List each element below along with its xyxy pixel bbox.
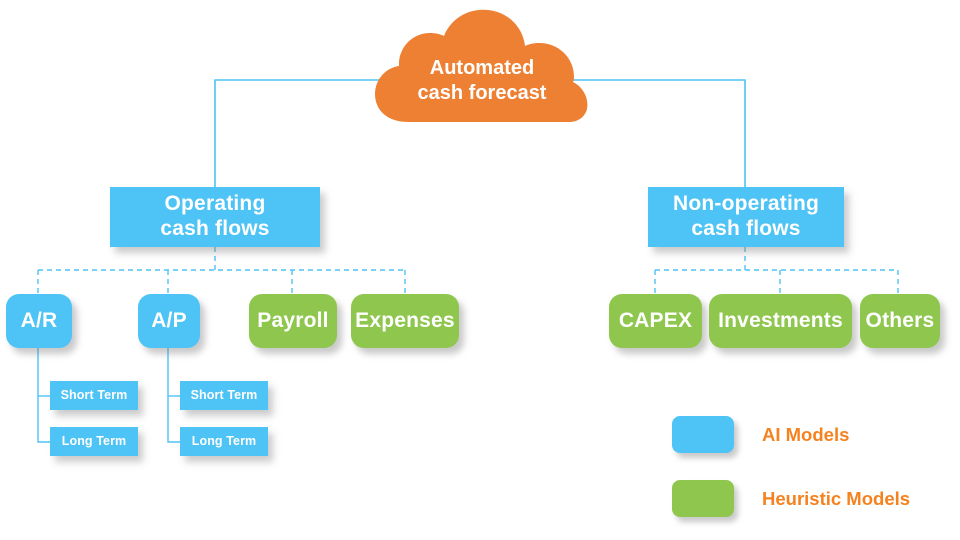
node-ar-long-term[interactable]: Long Term xyxy=(50,427,138,456)
node-label: Short Term xyxy=(61,388,128,403)
node-label: Non-operating cash flows xyxy=(673,192,819,242)
node-label: Operating cash flows xyxy=(160,192,269,242)
node-others[interactable]: Others xyxy=(860,294,940,348)
node-ap-short-term[interactable]: Short Term xyxy=(180,381,268,410)
node-label: Others xyxy=(866,309,935,334)
node-ar[interactable]: A/R xyxy=(6,294,72,348)
node-operating-cash-flows[interactable]: Operating cash flows xyxy=(110,187,320,247)
node-label: A/P xyxy=(151,309,187,334)
node-capex[interactable]: CAPEX xyxy=(609,294,702,348)
legend-swatch-green xyxy=(672,480,734,517)
node-label: Investments xyxy=(718,309,843,334)
connector-ar-spine xyxy=(38,348,50,442)
legend: AI Models Heuristic Models xyxy=(672,416,910,540)
node-label: CAPEX xyxy=(619,309,692,334)
node-label: A/R xyxy=(21,309,58,334)
node-ap[interactable]: A/P xyxy=(138,294,200,348)
diagram-canvas: Automated cash forecast Operating cash f… xyxy=(0,0,960,540)
node-label: Long Term xyxy=(192,434,257,449)
root-node-cloud[interactable]: Automated cash forecast xyxy=(372,6,592,126)
node-label: Expenses xyxy=(355,309,455,334)
node-ap-long-term[interactable]: Long Term xyxy=(180,427,268,456)
connector-ap-spine xyxy=(168,348,180,442)
legend-swatch-blue xyxy=(672,416,734,453)
root-node-label: Automated cash forecast xyxy=(372,56,592,106)
node-label: Payroll xyxy=(257,309,328,334)
node-payroll[interactable]: Payroll xyxy=(249,294,337,348)
node-label: Short Term xyxy=(191,388,258,403)
node-investments[interactable]: Investments xyxy=(709,294,852,348)
node-expenses[interactable]: Expenses xyxy=(351,294,459,348)
node-non-operating-cash-flows[interactable]: Non-operating cash flows xyxy=(648,187,844,247)
legend-label: Heuristic Models xyxy=(762,488,910,510)
node-label: Long Term xyxy=(62,434,127,449)
legend-label: AI Models xyxy=(762,424,849,446)
legend-item-ai-models: AI Models xyxy=(672,416,910,453)
node-ar-short-term[interactable]: Short Term xyxy=(50,381,138,410)
legend-item-heuristic-models: Heuristic Models xyxy=(672,480,910,517)
